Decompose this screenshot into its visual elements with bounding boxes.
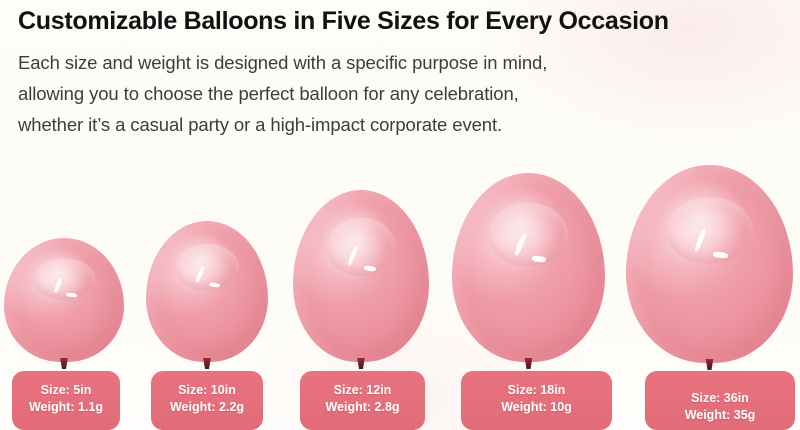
balloon-weight-text: Weight: 2.8g xyxy=(325,399,399,416)
balloon-shape-18in xyxy=(452,173,605,362)
balloon-size-text: Size: 12in xyxy=(334,382,392,399)
balloon-label-5in[interactable]: Size: 5in Weight: 1.1g xyxy=(12,371,120,430)
balloon-knot-icon xyxy=(356,358,366,369)
subtitle-line-1: Each size and weight is designed with a … xyxy=(18,47,778,78)
balloon-size-text: Size: 5in xyxy=(41,382,92,399)
page-title: Customizable Balloons in Five Sizes for … xyxy=(18,4,778,38)
subtitle-line-3: whether it’s a casual party or a high-im… xyxy=(18,109,778,140)
balloon-label-18in[interactable]: Size: 18in Weight: 10g xyxy=(461,371,612,430)
balloon-label-10in[interactable]: Size: 10in Weight: 2.2g xyxy=(151,371,263,430)
balloon-knot-icon xyxy=(59,358,69,369)
balloon-item-5in[interactable] xyxy=(4,238,124,362)
subtitle-line-2: allowing you to choose the perfect ballo… xyxy=(18,78,778,109)
balloon-weight-text: Weight: 10g xyxy=(501,399,572,416)
balloon-weight-text: Weight: 1.1g xyxy=(29,399,103,416)
subtitle: Each size and weight is designed with a … xyxy=(18,47,778,140)
balloon-knot-icon xyxy=(524,358,534,369)
balloon-item-36in[interactable] xyxy=(626,165,793,363)
balloon-weight-text: Weight: 35g xyxy=(685,407,756,424)
balloon-shape-12in xyxy=(293,190,429,362)
balloon-label-36in[interactable]: Size: 36in Weight: 35g xyxy=(645,371,795,430)
balloon-shape-36in xyxy=(626,165,793,363)
balloon-weight-text: Weight: 2.2g xyxy=(170,399,244,416)
balloon-dimple-icon xyxy=(666,197,753,264)
balloon-size-text: Size: 36in xyxy=(691,390,749,407)
balloon-label-12in[interactable]: Size: 12in Weight: 2.8g xyxy=(300,371,425,430)
balloon-size-text: Size: 10in xyxy=(178,382,236,399)
balloon-dimple-icon xyxy=(33,258,95,300)
balloon-dimple-icon xyxy=(326,218,397,276)
balloon-item-18in[interactable] xyxy=(452,173,605,362)
balloon-knot-icon xyxy=(705,359,715,370)
balloon-size-text: Size: 18in xyxy=(508,382,566,399)
balloon-shape-5in xyxy=(4,238,124,362)
balloon-shape-10in xyxy=(146,221,268,362)
balloon-item-12in[interactable] xyxy=(293,190,429,362)
balloon-item-10in[interactable] xyxy=(146,221,268,362)
balloon-dimple-icon xyxy=(175,244,238,292)
balloon-knot-icon xyxy=(202,358,212,369)
header: Customizable Balloons in Five Sizes for … xyxy=(18,4,778,140)
